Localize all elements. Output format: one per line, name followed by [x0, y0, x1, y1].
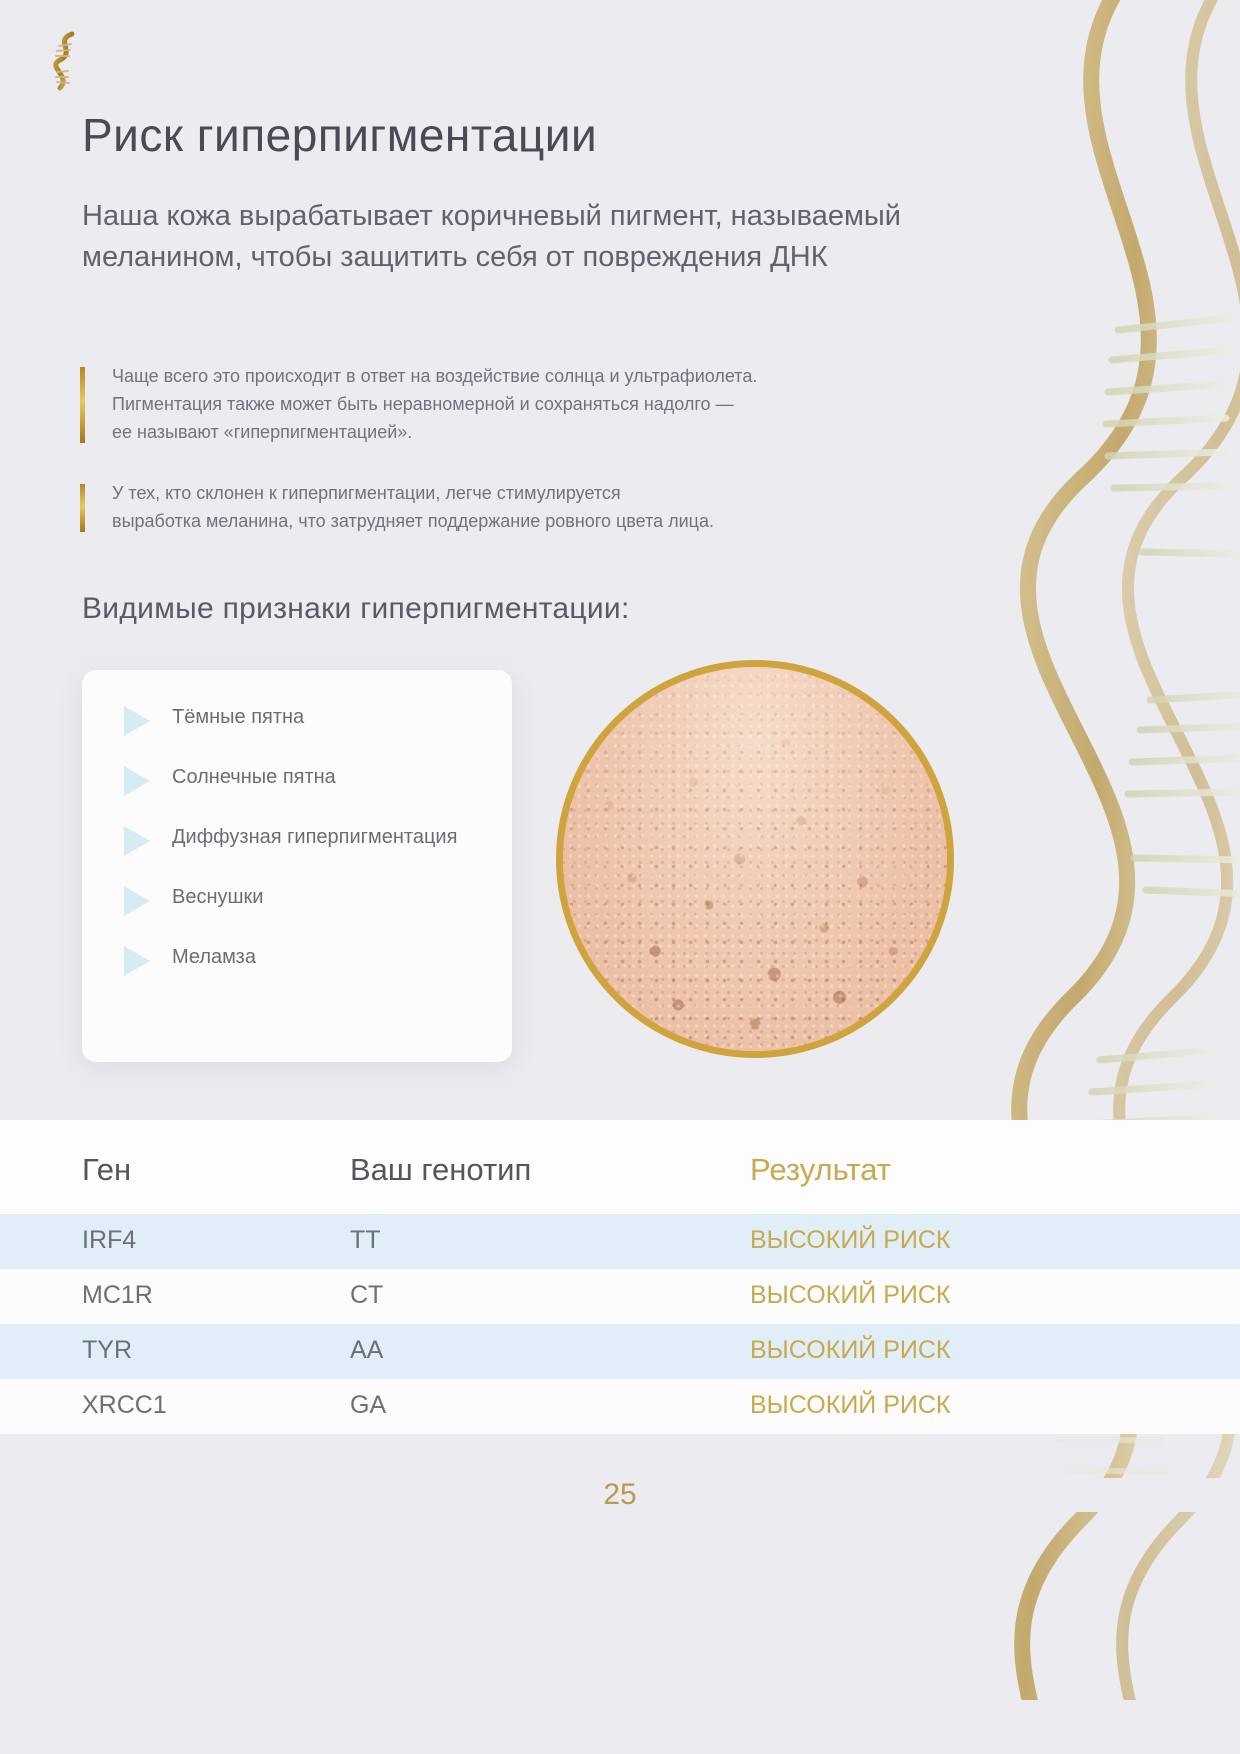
column-header-result: Результат — [750, 1120, 1240, 1214]
table-row: MC1R CT ВЫСОКИЙ РИСК — [0, 1269, 1240, 1324]
quote-1-line-1: Чаще всего это происходит в ответ на воз… — [112, 363, 1010, 391]
info-quote-1: Чаще всего это происходит в ответ на воз… — [80, 363, 1010, 447]
cell-result: ВЫСОКИЙ РИСК — [750, 1269, 1240, 1324]
triangle-bullet-icon — [124, 826, 150, 856]
info-quote-2: У тех, кто склонен к гиперпигментации, л… — [80, 480, 1010, 536]
triangle-bullet-icon — [124, 766, 150, 796]
skin-hyperpigmentation-photo — [556, 660, 954, 1058]
sign-label: Тёмные пятна — [172, 704, 304, 731]
page-subtitle: Наша кожа вырабатывает коричневый пигмен… — [82, 196, 962, 278]
table-row: TYR AA ВЫСОКИЙ РИСК — [0, 1324, 1240, 1379]
quote-1-line-2: Пигментация также может быть неравномерн… — [112, 391, 1010, 419]
cell-gene: IRF4 — [0, 1214, 350, 1269]
skin-highlight-layer — [563, 667, 947, 1051]
page-title: Риск гиперпигментации — [82, 108, 597, 162]
triangle-bullet-icon — [124, 886, 150, 916]
sign-label: Диффузная гиперпигментация — [172, 824, 457, 851]
cell-genotype: CT — [350, 1269, 750, 1324]
table-row: IRF4 TT ВЫСОКИЙ РИСК — [0, 1214, 1240, 1269]
quote-2-line-1: У тех, кто склонен к гиперпигментации, л… — [112, 480, 1010, 508]
cell-genotype: GA — [350, 1379, 750, 1434]
sign-label: Веснушки — [172, 884, 263, 911]
triangle-bullet-icon — [124, 946, 150, 976]
cell-gene: XRCC1 — [0, 1379, 350, 1434]
signs-heading: Видимые признаки гиперпигментации: — [82, 592, 630, 626]
page-number: 25 — [0, 1478, 1240, 1512]
cell-result: ВЫСОКИЙ РИСК — [750, 1214, 1240, 1269]
visible-signs-card: Тёмные пятна Солнечные пятна Диффузная г… — [82, 670, 512, 1062]
cell-gene: MC1R — [0, 1269, 350, 1324]
quote-1-line-3: ее называют «гиперпигментацией». — [112, 419, 1010, 447]
cell-genotype: TT — [350, 1214, 750, 1269]
cell-genotype: AA — [350, 1324, 750, 1379]
list-item: Меламза — [110, 944, 484, 976]
list-item: Тёмные пятна — [110, 704, 484, 736]
column-header-genotype: Ваш генотип — [350, 1120, 750, 1214]
column-header-gene: Ген — [0, 1120, 350, 1214]
list-item: Веснушки — [110, 884, 484, 916]
page-number-value: 25 — [581, 1478, 658, 1512]
report-page: Риск гиперпигментации Наша кожа вырабаты… — [0, 0, 1240, 1754]
sign-label: Солнечные пятна — [172, 764, 336, 791]
cell-gene: TYR — [0, 1324, 350, 1379]
list-item: Солнечные пятна — [110, 764, 484, 796]
quote-2-line-2: выработка меланина, что затрудняет подде… — [112, 508, 1010, 536]
sign-label: Меламза — [172, 944, 256, 971]
triangle-bullet-icon — [124, 706, 150, 736]
list-item: Диффузная гиперпигментация — [110, 824, 484, 856]
cell-result: ВЫСОКИЙ РИСК — [750, 1324, 1240, 1379]
dna-helix-icon — [46, 30, 86, 92]
table-row: XRCC1 GA ВЫСОКИЙ РИСК — [0, 1379, 1240, 1434]
table-header-row: Ген Ваш генотип Результат — [0, 1120, 1240, 1214]
genetic-results-table: Ген Ваш генотип Результат IRF4 TT ВЫСОКИ… — [0, 1120, 1240, 1434]
cell-result: ВЫСОКИЙ РИСК — [750, 1379, 1240, 1434]
